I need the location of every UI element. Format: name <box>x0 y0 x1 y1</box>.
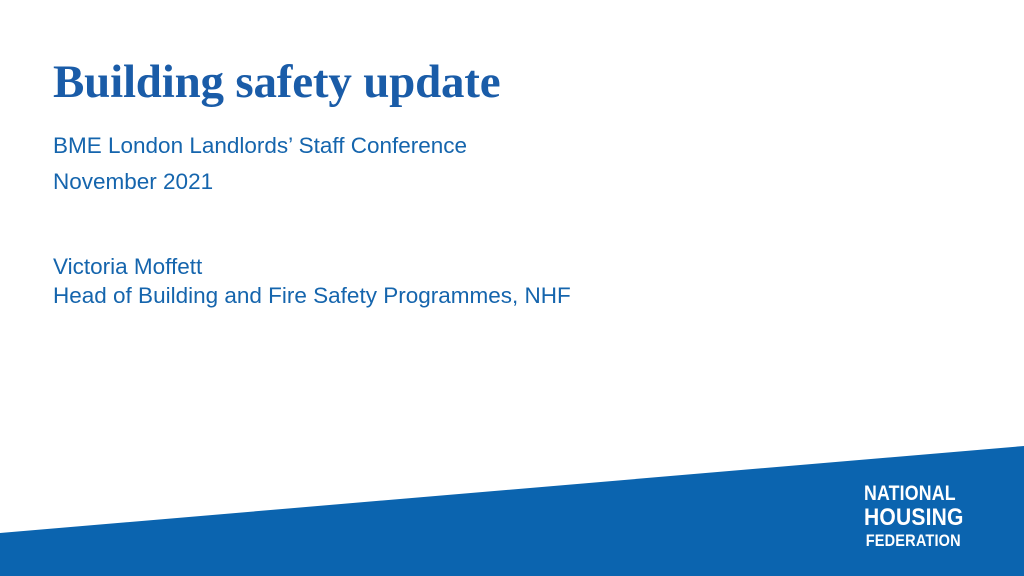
subtitle-line-event: BME London Landlords’ Staff Conference <box>53 128 913 164</box>
subtitle-line-date: November 2021 <box>53 164 913 200</box>
slide-text-block: Building safety update BME London Landlo… <box>53 56 913 310</box>
page-title: Building safety update <box>53 56 913 108</box>
title-slide: Building safety update BME London Landlo… <box>0 0 1024 576</box>
nhf-logo: NATIONAL HOUSING FEDERATION <box>864 483 992 550</box>
presenter-block: Victoria Moffett Head of Building and Fi… <box>53 252 913 310</box>
subtitle-block: BME London Landlords’ Staff Conference N… <box>53 128 913 200</box>
logo-line-housing: HOUSING <box>864 505 974 530</box>
logo-line-federation: FEDERATION <box>864 532 973 550</box>
presenter-role: Head of Building and Fire Safety Program… <box>53 281 913 310</box>
logo-line-national: NATIONAL <box>864 483 972 504</box>
presenter-name: Victoria Moffett <box>53 252 913 281</box>
